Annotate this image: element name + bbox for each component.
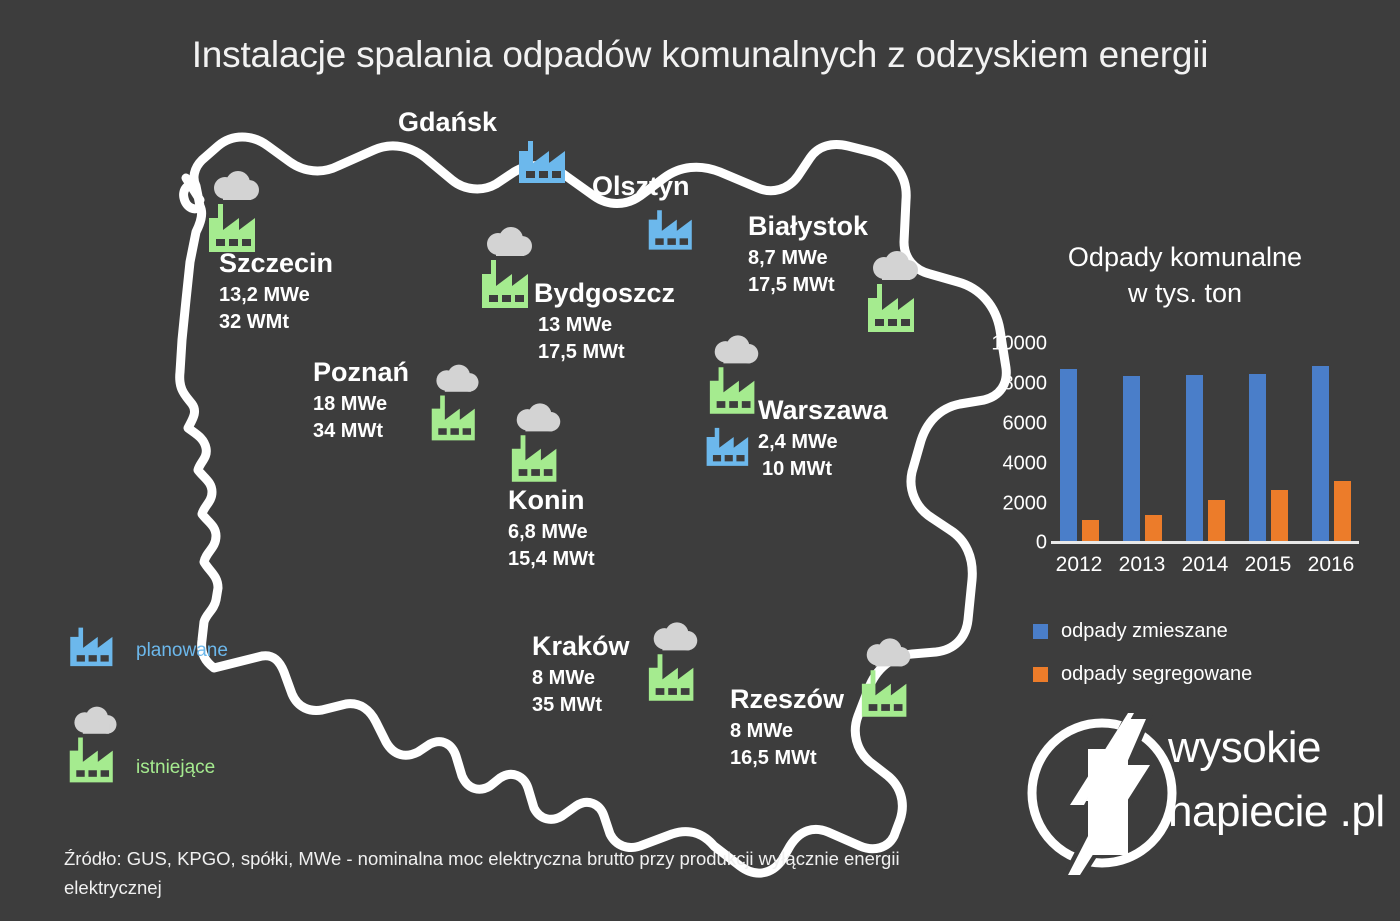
city-marker-gdansk[interactable]: Gdańsk bbox=[398, 108, 497, 136]
city-mwt-bydgoszcz: 17,5 MWt bbox=[538, 339, 675, 365]
chart-title: Odpady komunalne w tys. ton bbox=[1005, 240, 1365, 312]
city-mwe-warszawa: 2,4 MWe bbox=[758, 429, 888, 455]
y-tick-10000: 10000 bbox=[991, 333, 1047, 356]
bar-group bbox=[1177, 343, 1233, 541]
city-name-bydgoszcz: Bydgoszcz bbox=[534, 279, 675, 307]
smoke-cloud-icon bbox=[74, 707, 116, 734]
city-name-gdansk: Gdańsk bbox=[398, 108, 497, 136]
city-name-warszawa: Warszawa bbox=[758, 396, 888, 424]
city-mwe-krakow: 8 MWe bbox=[532, 665, 630, 691]
smoke-cloud-icon bbox=[715, 335, 759, 363]
factory-icon-existing-legend bbox=[66, 705, 124, 785]
y-tick-4000: 4000 bbox=[1003, 453, 1048, 476]
chart-legend-item-mixed[interactable]: odpady zmieszane bbox=[1033, 620, 1252, 643]
chart-title-line2: w tys. ton bbox=[1005, 276, 1365, 312]
y-tick-2000: 2000 bbox=[1003, 493, 1048, 516]
city-mwt-szczecin: 32 WMt bbox=[219, 309, 333, 335]
chart-legend: odpady zmieszane odpady segregowane bbox=[1033, 620, 1252, 706]
bar-sorted-2016[interactable] bbox=[1334, 481, 1351, 541]
city-mwe-bialystok: 8,7 MWe bbox=[748, 245, 868, 271]
y-tick-8000: 8000 bbox=[1003, 373, 1048, 396]
logo-text-line1: wysokie bbox=[1168, 723, 1321, 773]
bar-sorted-2015[interactable] bbox=[1271, 490, 1288, 541]
factory-icon-planned-warszawa bbox=[703, 424, 765, 502]
bar-group bbox=[1114, 343, 1170, 541]
map-legend-label-existing: istniejące bbox=[136, 757, 215, 779]
factory-icon-existing-bialystok bbox=[864, 250, 926, 328]
smoke-cloud-icon bbox=[873, 251, 918, 280]
logo-text-line2: napiecie .pl bbox=[1168, 787, 1385, 837]
city-name-bialystok: Białystok bbox=[748, 212, 868, 240]
city-marker-rzeszow[interactable]: Rzeszów 8 MWe 16,5 MWt bbox=[730, 685, 844, 771]
city-name-krakow: Kraków bbox=[532, 632, 630, 660]
city-name-olsztyn: Olsztyn bbox=[592, 172, 690, 200]
smoke-cloud-icon bbox=[436, 365, 478, 392]
legend-label-sorted: odpady segregowane bbox=[1061, 663, 1252, 686]
bar-group bbox=[1303, 343, 1359, 541]
city-name-poznan: Poznań bbox=[313, 358, 409, 386]
city-marker-bydgoszcz[interactable]: Bydgoszcz 13 MWe 17,5 MWt bbox=[534, 279, 675, 365]
chart-title-line1: Odpady komunalne bbox=[1005, 240, 1365, 276]
smoke-cloud-icon bbox=[867, 638, 911, 666]
bar-group bbox=[1051, 343, 1107, 541]
city-marker-poznan[interactable]: Poznań 18 MWe 34 MWt bbox=[313, 358, 409, 444]
city-marker-szczecin[interactable]: Szczecin 13,2 MWe 32 WMt bbox=[219, 249, 333, 335]
bar-mixed-2015[interactable] bbox=[1249, 374, 1266, 541]
chart-bars-area bbox=[1051, 343, 1359, 544]
map-legend-planned: planowane bbox=[66, 624, 228, 668]
chart-legend-item-sorted[interactable]: odpady segregowane bbox=[1033, 663, 1252, 686]
map-legend-existing: istniejące bbox=[66, 705, 215, 785]
bar-sorted-2012[interactable] bbox=[1082, 520, 1099, 541]
x-label-2016: 2016 bbox=[1303, 553, 1359, 577]
y-tick-6000: 6000 bbox=[1003, 413, 1048, 436]
factory-icon-planned-olsztyn bbox=[645, 206, 707, 284]
smoke-cloud-icon bbox=[487, 227, 532, 256]
y-tick-0: 0 bbox=[1036, 532, 1047, 555]
bar-mixed-2016[interactable] bbox=[1312, 366, 1329, 541]
chart-x-axis: 20122013201420152016 bbox=[1051, 553, 1359, 577]
x-label-2014: 2014 bbox=[1177, 553, 1233, 577]
smoke-cloud-icon bbox=[517, 403, 561, 431]
bar-mixed-2012[interactable] bbox=[1060, 369, 1077, 541]
chart-plot: 10000 8000 6000 4000 2000 0 201220132014… bbox=[985, 343, 1385, 558]
bar-sorted-2014[interactable] bbox=[1208, 500, 1225, 541]
factory-icon-existing-krakow bbox=[645, 621, 707, 699]
city-name-szczecin: Szczecin bbox=[219, 249, 333, 277]
x-label-2015: 2015 bbox=[1240, 553, 1296, 577]
infographic-root: Instalacje spalania odpadów komunalnych … bbox=[0, 0, 1400, 921]
page-title: Instalacje spalania odpadów komunalnych … bbox=[0, 34, 1400, 76]
city-mwt-krakow: 35 MWt bbox=[532, 692, 630, 718]
city-mwt-rzeszow: 16,5 MWt bbox=[730, 745, 844, 771]
factory-icon-planned-legend bbox=[66, 624, 124, 668]
city-marker-warszawa[interactable]: Warszawa 2,4 MWe 10 MWt bbox=[758, 396, 888, 482]
city-mwt-warszawa: 10 MWt bbox=[762, 456, 888, 482]
factory-icon-existing-bydgoszcz bbox=[478, 226, 540, 304]
city-marker-bialystok[interactable]: Białystok 8,7 MWe 17,5 MWt bbox=[748, 212, 868, 298]
brand-logo[interactable]: wysokie napiecie .pl bbox=[1010, 705, 1390, 880]
bar-mixed-2014[interactable] bbox=[1186, 375, 1203, 541]
map-legend-label-planned: planowane bbox=[136, 640, 228, 662]
x-label-2012: 2012 bbox=[1051, 553, 1107, 577]
legend-label-mixed: odpady zmieszane bbox=[1061, 620, 1228, 643]
city-mwt-konin: 15,4 MWt bbox=[508, 546, 595, 572]
city-mwt-poznan: 34 MWt bbox=[313, 418, 409, 444]
city-name-konin: Konin bbox=[508, 486, 595, 514]
bar-mixed-2013[interactable] bbox=[1123, 376, 1140, 541]
source-note: Źródło: GUS, KPGO, spółki, MWe - nominal… bbox=[64, 845, 944, 902]
smoke-cloud-icon bbox=[214, 171, 259, 200]
city-mwe-konin: 6,8 MWe bbox=[508, 519, 595, 545]
legend-swatch-mixed bbox=[1033, 624, 1048, 639]
city-mwt-bialystok: 17,5 MWt bbox=[748, 272, 868, 298]
city-marker-konin[interactable]: Konin 6,8 MWe 15,4 MWt bbox=[508, 486, 595, 572]
legend-swatch-sorted bbox=[1033, 667, 1048, 682]
city-mwe-poznan: 18 MWe bbox=[313, 391, 409, 417]
x-label-2013: 2013 bbox=[1114, 553, 1170, 577]
city-mwe-szczecin: 13,2 MWe bbox=[219, 282, 333, 308]
bar-group bbox=[1240, 343, 1296, 541]
city-marker-olsztyn[interactable]: Olsztyn bbox=[592, 172, 690, 200]
city-mwe-rzeszow: 8 MWe bbox=[730, 718, 844, 744]
factory-icon-existing-rzeszow bbox=[858, 637, 920, 715]
city-marker-krakow[interactable]: Kraków 8 MWe 35 MWt bbox=[532, 632, 630, 718]
factory-icon-existing-konin bbox=[508, 402, 570, 480]
factory-icon-existing-poznan bbox=[428, 363, 490, 441]
smoke-cloud-icon bbox=[654, 622, 698, 650]
city-mwe-bydgoszcz: 13 MWe bbox=[538, 312, 675, 338]
bar-sorted-2013[interactable] bbox=[1145, 515, 1162, 541]
factory-icon-existing-szczecin bbox=[205, 170, 267, 248]
waste-chart-panel: Odpady komunalne w tys. ton 10000 8000 6… bbox=[985, 240, 1385, 695]
chart-y-axis: 10000 8000 6000 4000 2000 0 bbox=[985, 343, 1047, 558]
city-name-rzeszow: Rzeszów bbox=[730, 685, 844, 713]
factory-icon-planned-gdansk bbox=[515, 137, 577, 215]
